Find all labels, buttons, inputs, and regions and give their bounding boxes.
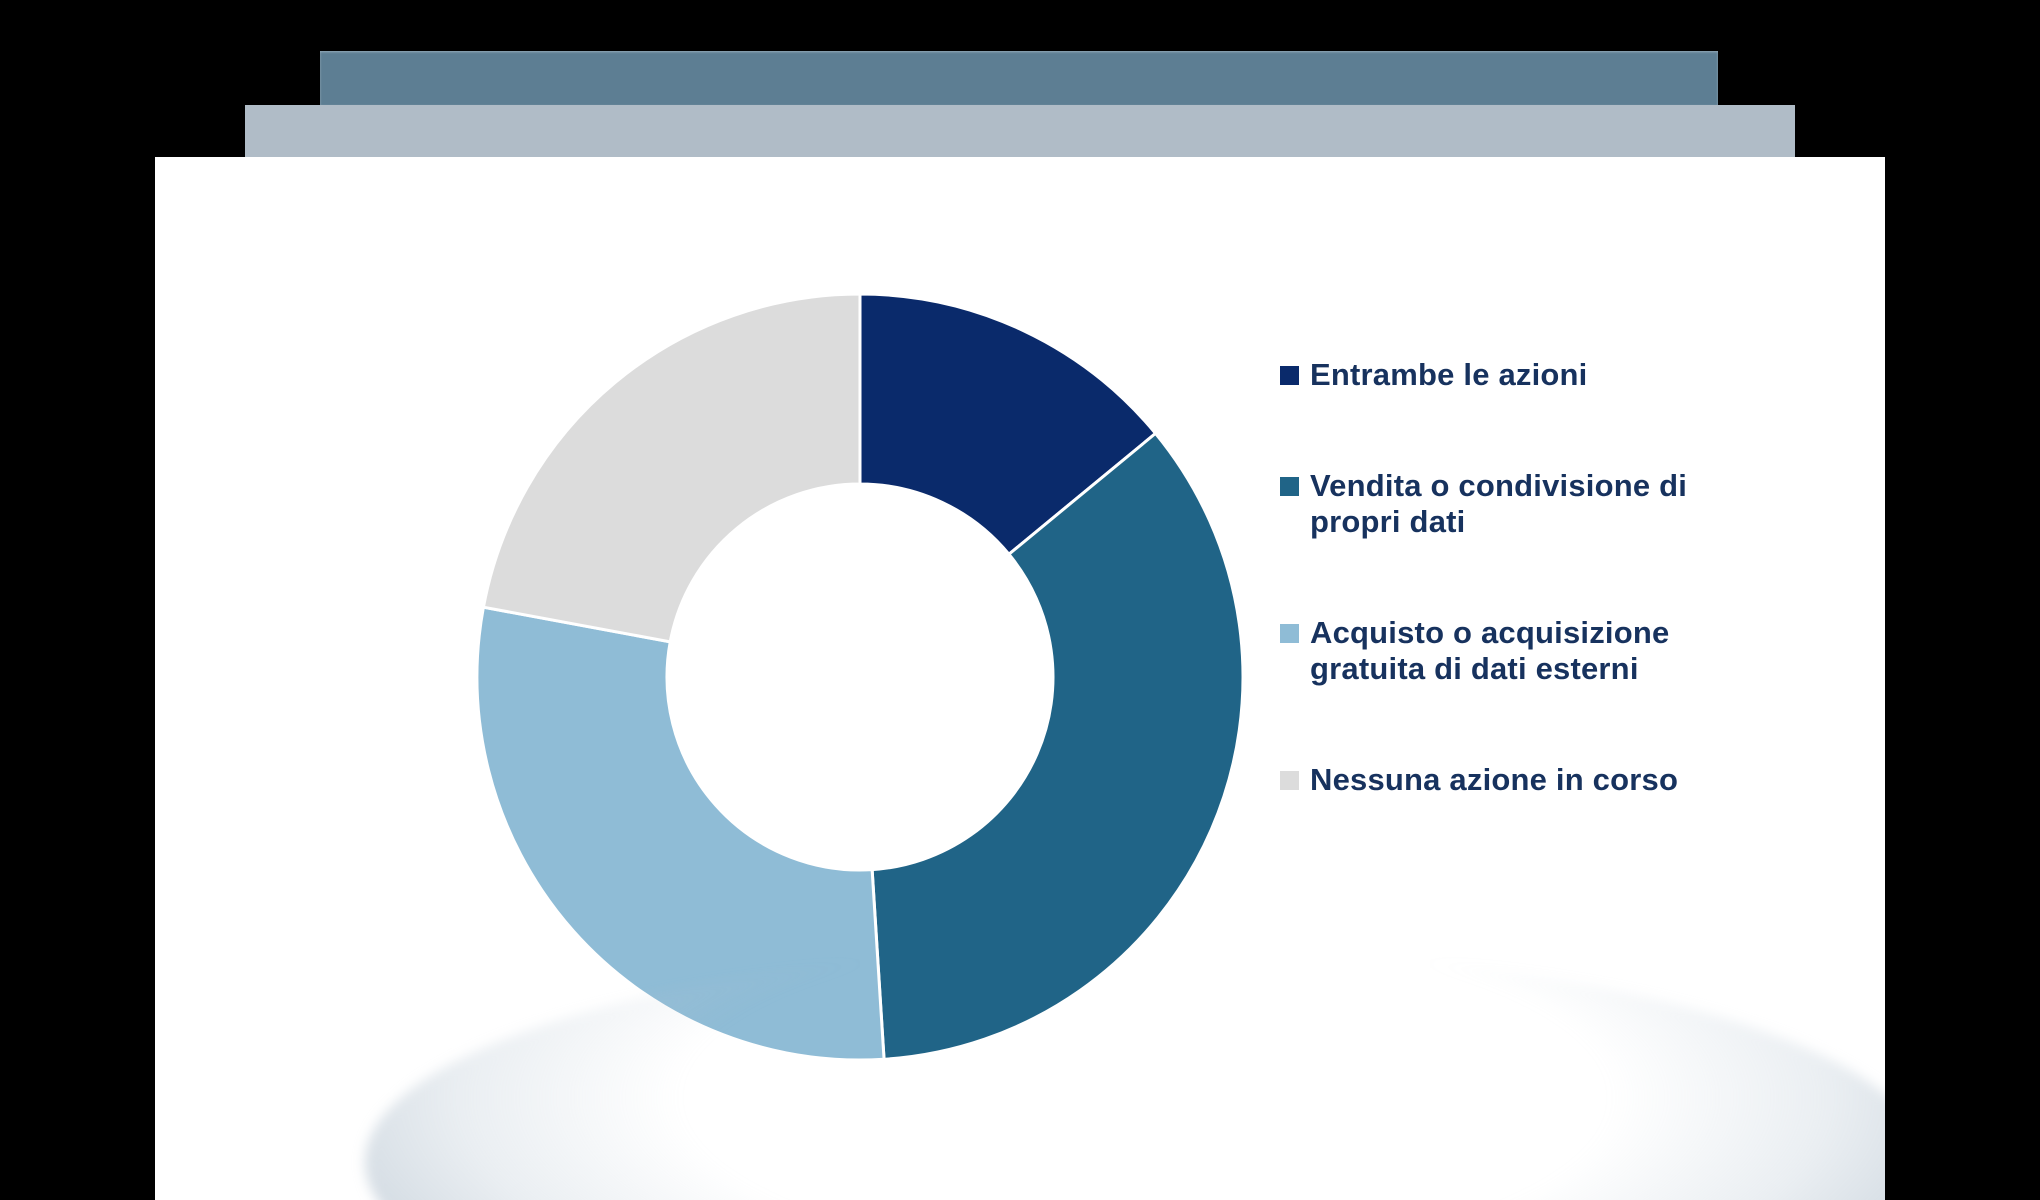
legend-item-label: Acquisto o acquisizione gratuita di dati… [1310, 615, 1669, 688]
slide-content-card: Entrambe le azioni Vendita o condivision… [155, 157, 1885, 1200]
donut-slice-group [477, 294, 1243, 1060]
legend-swatch-icon [1280, 366, 1299, 385]
donut-chart-svg [320, 282, 1400, 1072]
chart-legend: Entrambe le azioni Vendita o condivision… [1280, 357, 1800, 798]
legend-swatch-icon [1280, 771, 1299, 790]
legend-item-vendita-o-condivisione[interactable]: Vendita o condivisione di propri dati [1280, 468, 1800, 541]
donut-slice[interactable] [483, 294, 860, 642]
header-accent-bar-light [245, 105, 1795, 157]
legend-item-label: Entrambe le azioni [1310, 357, 1588, 394]
legend-swatch-icon [1280, 477, 1299, 496]
donut-slice[interactable] [872, 433, 1243, 1059]
header-accent-bar-dark [320, 51, 1718, 105]
legend-item-label: Nessuna azione in corso [1310, 762, 1678, 799]
donut-slice[interactable] [477, 607, 884, 1060]
legend-swatch-icon [1280, 624, 1299, 643]
legend-item-label: Vendita o condivisione di propri dati [1310, 468, 1687, 541]
legend-item-acquisto-o-acquisizione[interactable]: Acquisto o acquisizione gratuita di dati… [1280, 615, 1800, 688]
legend-item-nessuna-azione[interactable]: Nessuna azione in corso [1280, 762, 1800, 799]
legend-item-entrambe-le-azioni[interactable]: Entrambe le azioni [1280, 357, 1800, 394]
slide-canvas: Entrambe le azioni Vendita o condivision… [0, 0, 2040, 1200]
